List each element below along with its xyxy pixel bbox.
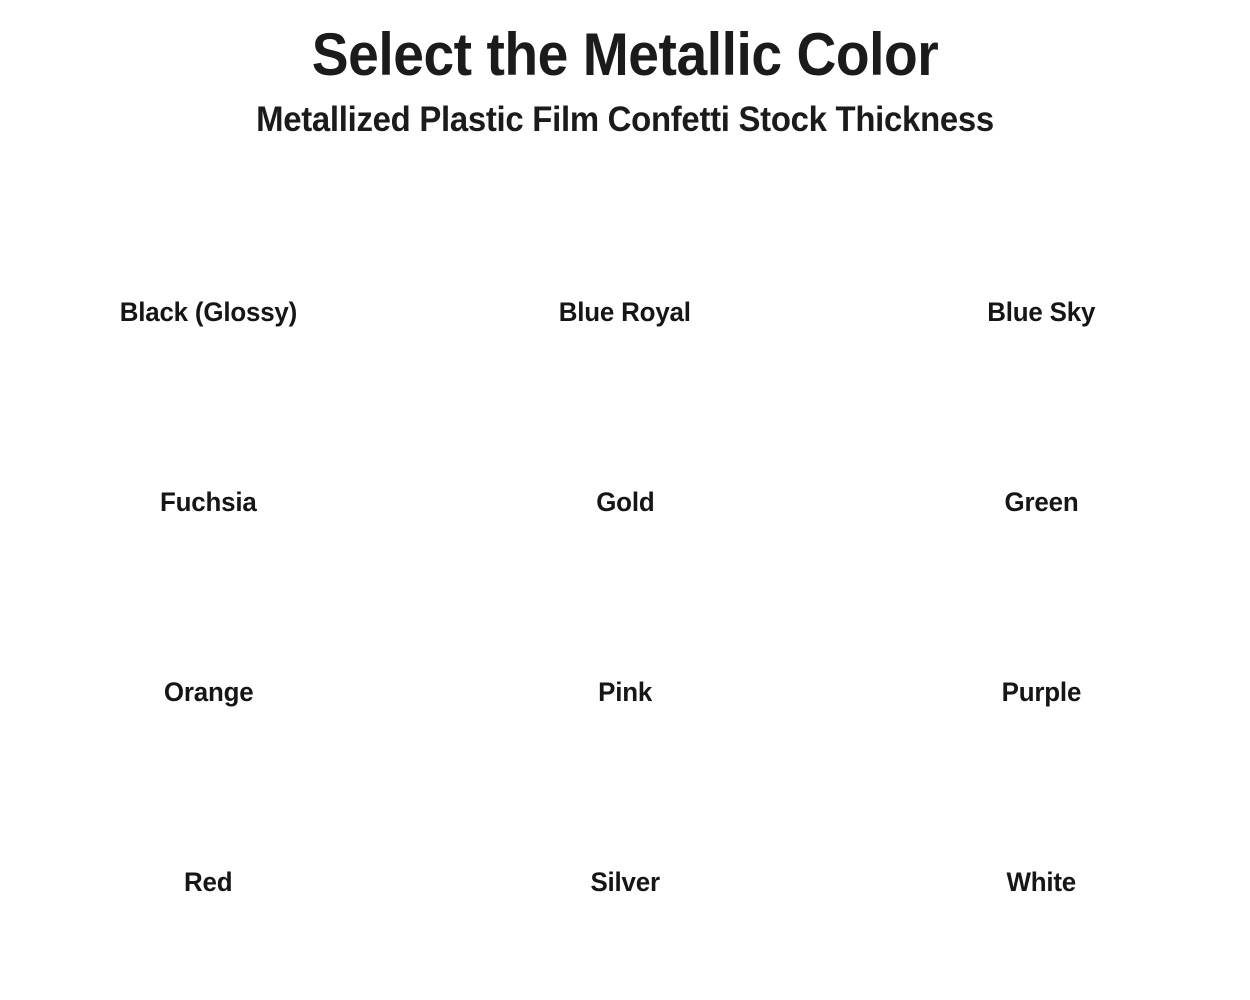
spartans-wordart: SPARTANS (448, 189, 802, 278)
wordart-sample-orange[interactable]: SPARTANS (38, 566, 378, 662)
color-label-white: White (1007, 866, 1077, 898)
spartans-wordart: SPARTANS (865, 379, 1219, 468)
color-swatch-option-orange[interactable]: SPARTANSOrange (3, 566, 413, 756)
page-header: Select the Metallic Color Metallized Pla… (0, 0, 1250, 142)
spartans-wordart: SPARTANS (448, 569, 802, 658)
color-swatch-grid: SPARTANSBlack (Glossy)SPARTANSBlue Royal… (0, 186, 1250, 946)
spartans-wordart: SPARTANS (31, 379, 385, 468)
color-label-fuchsia: Fuchsia (160, 486, 257, 518)
color-swatch-option-pink[interactable]: SPARTANSPink (420, 566, 830, 756)
color-label-blue-sky: Blue Sky (988, 296, 1096, 328)
color-label-purple: Purple (1002, 676, 1082, 708)
wordart-sample-purple[interactable]: SPARTANS (872, 566, 1212, 662)
spartans-wordart: SPARTANS (865, 569, 1219, 658)
spartans-wordart: SPARTANS (31, 759, 385, 848)
page-subtitle: Metallized Plastic Film Confetti Stock T… (38, 98, 1213, 142)
spartans-wordart: SPARTANS (31, 569, 385, 658)
wordart-sample-silver[interactable]: SPARTANS (455, 756, 795, 852)
metallic-color-selector-page: Select the Metallic Color Metallized Pla… (0, 0, 1250, 1000)
spartans-wordart: SPARTANS (865, 189, 1219, 278)
color-swatch-option-black-glossy[interactable]: SPARTANSBlack (Glossy) (3, 186, 413, 376)
wordart-sample-red[interactable]: SPARTANS (38, 756, 378, 852)
wordart-sample-gold[interactable]: SPARTANS (455, 376, 795, 472)
spartans-wordart: SPARTANS (448, 759, 802, 848)
wordart-sample-white[interactable]: SPARTANS (872, 756, 1212, 852)
color-label-pink: Pink (598, 676, 652, 708)
color-label-blue-royal: Blue Royal (559, 296, 691, 328)
spartans-wordart: SPARTANS (31, 189, 385, 278)
spartans-wordart: SPARTANS (865, 759, 1219, 848)
color-swatch-option-blue-sky[interactable]: SPARTANSBlue Sky (837, 186, 1247, 376)
color-swatch-option-blue-royal[interactable]: SPARTANSBlue Royal (420, 186, 830, 376)
wordart-sample-blue-sky[interactable]: SPARTANS (872, 186, 1212, 282)
color-swatch-option-silver[interactable]: SPARTANSSilver (420, 756, 830, 946)
color-swatch-option-red[interactable]: SPARTANSRed (3, 756, 413, 946)
color-swatch-option-green[interactable]: SPARTANSGreen (837, 376, 1247, 566)
color-label-red: Red (184, 866, 232, 898)
color-label-gold: Gold (596, 486, 654, 518)
wordart-sample-black-glossy[interactable]: SPARTANS (38, 186, 378, 282)
color-swatch-option-white[interactable]: SPARTANSWhite (837, 756, 1247, 946)
color-label-silver: Silver (590, 866, 659, 898)
wordart-sample-green[interactable]: SPARTANS (872, 376, 1212, 472)
color-label-black-glossy: Black (Glossy) (120, 296, 297, 328)
color-label-orange: Orange (164, 676, 254, 708)
color-swatch-option-gold[interactable]: SPARTANSGold (420, 376, 830, 566)
wordart-sample-pink[interactable]: SPARTANS (455, 566, 795, 662)
color-swatch-option-fuchsia[interactable]: SPARTANSFuchsia (3, 376, 413, 566)
page-title: Select the Metallic Color (50, 22, 1200, 88)
color-swatch-option-purple[interactable]: SPARTANSPurple (837, 566, 1247, 756)
wordart-sample-fuchsia[interactable]: SPARTANS (38, 376, 378, 472)
spartans-wordart: SPARTANS (448, 379, 802, 468)
color-label-green: Green (1005, 486, 1079, 518)
wordart-sample-blue-royal[interactable]: SPARTANS (455, 186, 795, 282)
